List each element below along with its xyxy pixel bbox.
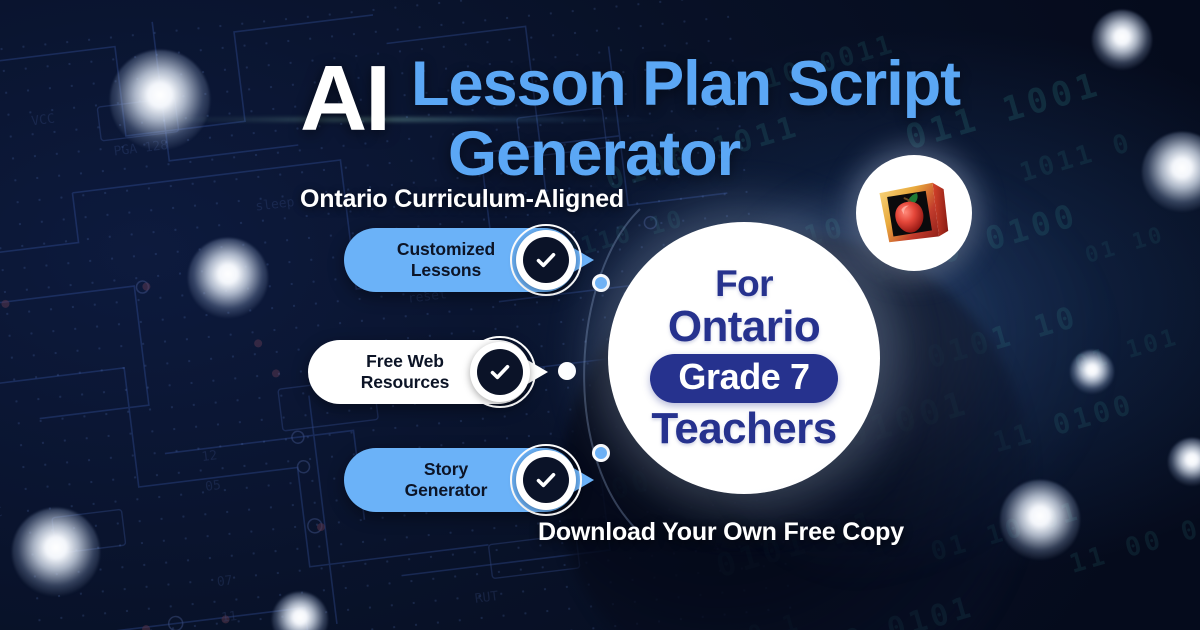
feature-pill-label-line1: Customized (364, 239, 528, 260)
glow-orb (1168, 438, 1200, 486)
headline-line2: Generator (448, 119, 740, 189)
badge-audience-label: Teachers (651, 407, 836, 451)
check-circle-icon (516, 230, 576, 290)
headline-line1: Lesson Plan Script (411, 49, 960, 119)
check-circle-icon (470, 342, 530, 402)
glow-orb (1142, 132, 1200, 212)
check-circle-icon (516, 450, 576, 510)
promo-banner: VCCPGA 128 GIAVCC 1205 0711 GTDRUT reset… (0, 0, 1200, 630)
feature-pill-customized-lessons[interactable]: Customized Lessons (344, 228, 576, 292)
feature-pill-label-line2: Lessons (364, 260, 528, 281)
apple-in-frame-logo[interactable] (856, 155, 972, 271)
feature-pill-label-line2: Generator (364, 480, 528, 501)
svg-text:VCC: VCC (0, 505, 3, 523)
footer-cta: Download Your Own Free Copy (538, 518, 904, 547)
feature-pill-label-line1: Free Web (328, 351, 482, 372)
subheadline: Ontario Curriculum-Aligned (300, 185, 624, 214)
feature-pill-label-line2: Resources (328, 372, 482, 393)
headline-ai: AI (300, 46, 389, 150)
feature-pill-story-generator[interactable]: Story Generator (344, 448, 576, 512)
feature-pill-label-line1: Story (364, 459, 528, 480)
glow-orb (1000, 480, 1080, 560)
feature-pill-free-web-resources[interactable]: Free Web Resources (308, 340, 530, 404)
connector-dot (592, 444, 610, 462)
badge-region-label: Ontario (668, 305, 820, 349)
glow-orb (1070, 350, 1114, 394)
connector-dot (592, 274, 610, 292)
audience-badge: For Ontario Grade 7 Teachers (608, 222, 880, 494)
badge-grade-pill: Grade 7 (650, 354, 837, 403)
badge-for-label: For (715, 265, 773, 302)
connector-dot (558, 362, 576, 380)
glow-orb (1092, 10, 1152, 70)
